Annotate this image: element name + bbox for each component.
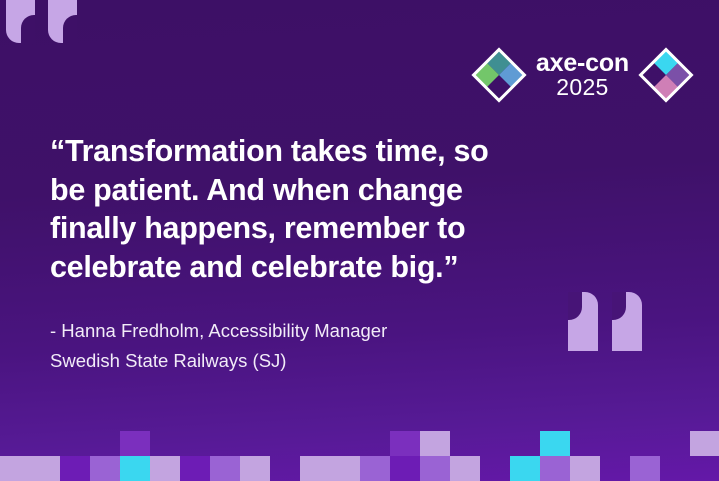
- mosaic-cell: [330, 456, 360, 481]
- mosaic-cell: [390, 431, 420, 456]
- mosaic-cell: [420, 431, 450, 456]
- mosaic-cell: [60, 431, 90, 456]
- quote-line: “Transformation takes time, so: [50, 132, 590, 171]
- mosaic-cell: [390, 456, 420, 481]
- mosaic-cell: [30, 431, 60, 456]
- mosaic-cell: [270, 456, 300, 481]
- mosaic-row: [0, 456, 719, 481]
- quote-card: axe-con 2025 “Transformation takes time,…: [0, 0, 719, 481]
- mosaic-cell: [420, 456, 450, 481]
- mosaic-cell: [150, 431, 180, 456]
- mosaic-cell: [60, 456, 90, 481]
- mosaic-cell: [510, 456, 540, 481]
- mosaic-cell: [90, 431, 120, 456]
- mosaic-cell: [600, 456, 630, 481]
- mosaic-cell: [120, 431, 150, 456]
- quote-line: celebrate and celebrate big.”: [50, 248, 590, 287]
- mosaic-cell: [540, 431, 570, 456]
- closing-quote-icon: [568, 292, 642, 351]
- pixel-mosaic-band: [0, 431, 719, 481]
- closing-quote-glyph-1: [568, 292, 598, 351]
- mosaic-cell: [480, 431, 510, 456]
- mosaic-cell: [600, 431, 630, 456]
- mosaic-cell: [120, 456, 150, 481]
- mosaic-cell: [540, 456, 570, 481]
- logo-year: 2025: [556, 76, 608, 99]
- mosaic-cell: [360, 456, 390, 481]
- mosaic-cell: [690, 456, 719, 481]
- mosaic-cell: [300, 431, 330, 456]
- logo-wordmark: axe-con 2025: [536, 51, 629, 100]
- mosaic-cell: [300, 456, 330, 481]
- mosaic-cell: [450, 456, 480, 481]
- mosaic-cell: [480, 456, 510, 481]
- mosaic-cell: [240, 431, 270, 456]
- mosaic-cell: [180, 431, 210, 456]
- closing-quote-glyph-2: [612, 292, 642, 351]
- mosaic-cell: [240, 456, 270, 481]
- mosaic-cell: [0, 431, 30, 456]
- opening-quote-glyph-1: [6, 0, 35, 43]
- mosaic-cell: [150, 456, 180, 481]
- mosaic-cell: [90, 456, 120, 481]
- attribution-line: - Hanna Fredholm, Accessibility Manager: [50, 316, 570, 346]
- mosaic-cell: [570, 456, 600, 481]
- mosaic-cell: [510, 431, 540, 456]
- mosaic-cell: [210, 431, 240, 456]
- opening-quote-icon: [6, 0, 77, 43]
- opening-quote-glyph-2: [48, 0, 77, 43]
- quote-text: “Transformation takes time, so be patien…: [50, 132, 590, 286]
- mosaic-row: [0, 431, 719, 456]
- quote-attribution: - Hanna Fredholm, Accessibility Manager …: [50, 316, 570, 376]
- mosaic-cell: [330, 431, 360, 456]
- mosaic-cell: [660, 456, 690, 481]
- mosaic-cell: [690, 431, 719, 456]
- axe-con-logo: axe-con 2025: [468, 44, 697, 106]
- quote-line: finally happens, remember to: [50, 209, 590, 248]
- mosaic-cell: [180, 456, 210, 481]
- mosaic-cell: [570, 431, 600, 456]
- mosaic-cell: [30, 456, 60, 481]
- logo-name: axe-con: [536, 51, 629, 77]
- axe-con-diamond-left-icon: [468, 44, 530, 106]
- attribution-line: Swedish State Railways (SJ): [50, 346, 570, 376]
- mosaic-cell: [210, 456, 240, 481]
- mosaic-cell: [360, 431, 390, 456]
- mosaic-cell: [630, 431, 660, 456]
- mosaic-cell: [270, 431, 300, 456]
- quote-line: be patient. And when change: [50, 171, 590, 210]
- mosaic-cell: [660, 431, 690, 456]
- mosaic-cell: [450, 431, 480, 456]
- mosaic-cell: [630, 456, 660, 481]
- axe-con-diamond-right-icon: [635, 44, 697, 106]
- mosaic-cell: [0, 456, 30, 481]
